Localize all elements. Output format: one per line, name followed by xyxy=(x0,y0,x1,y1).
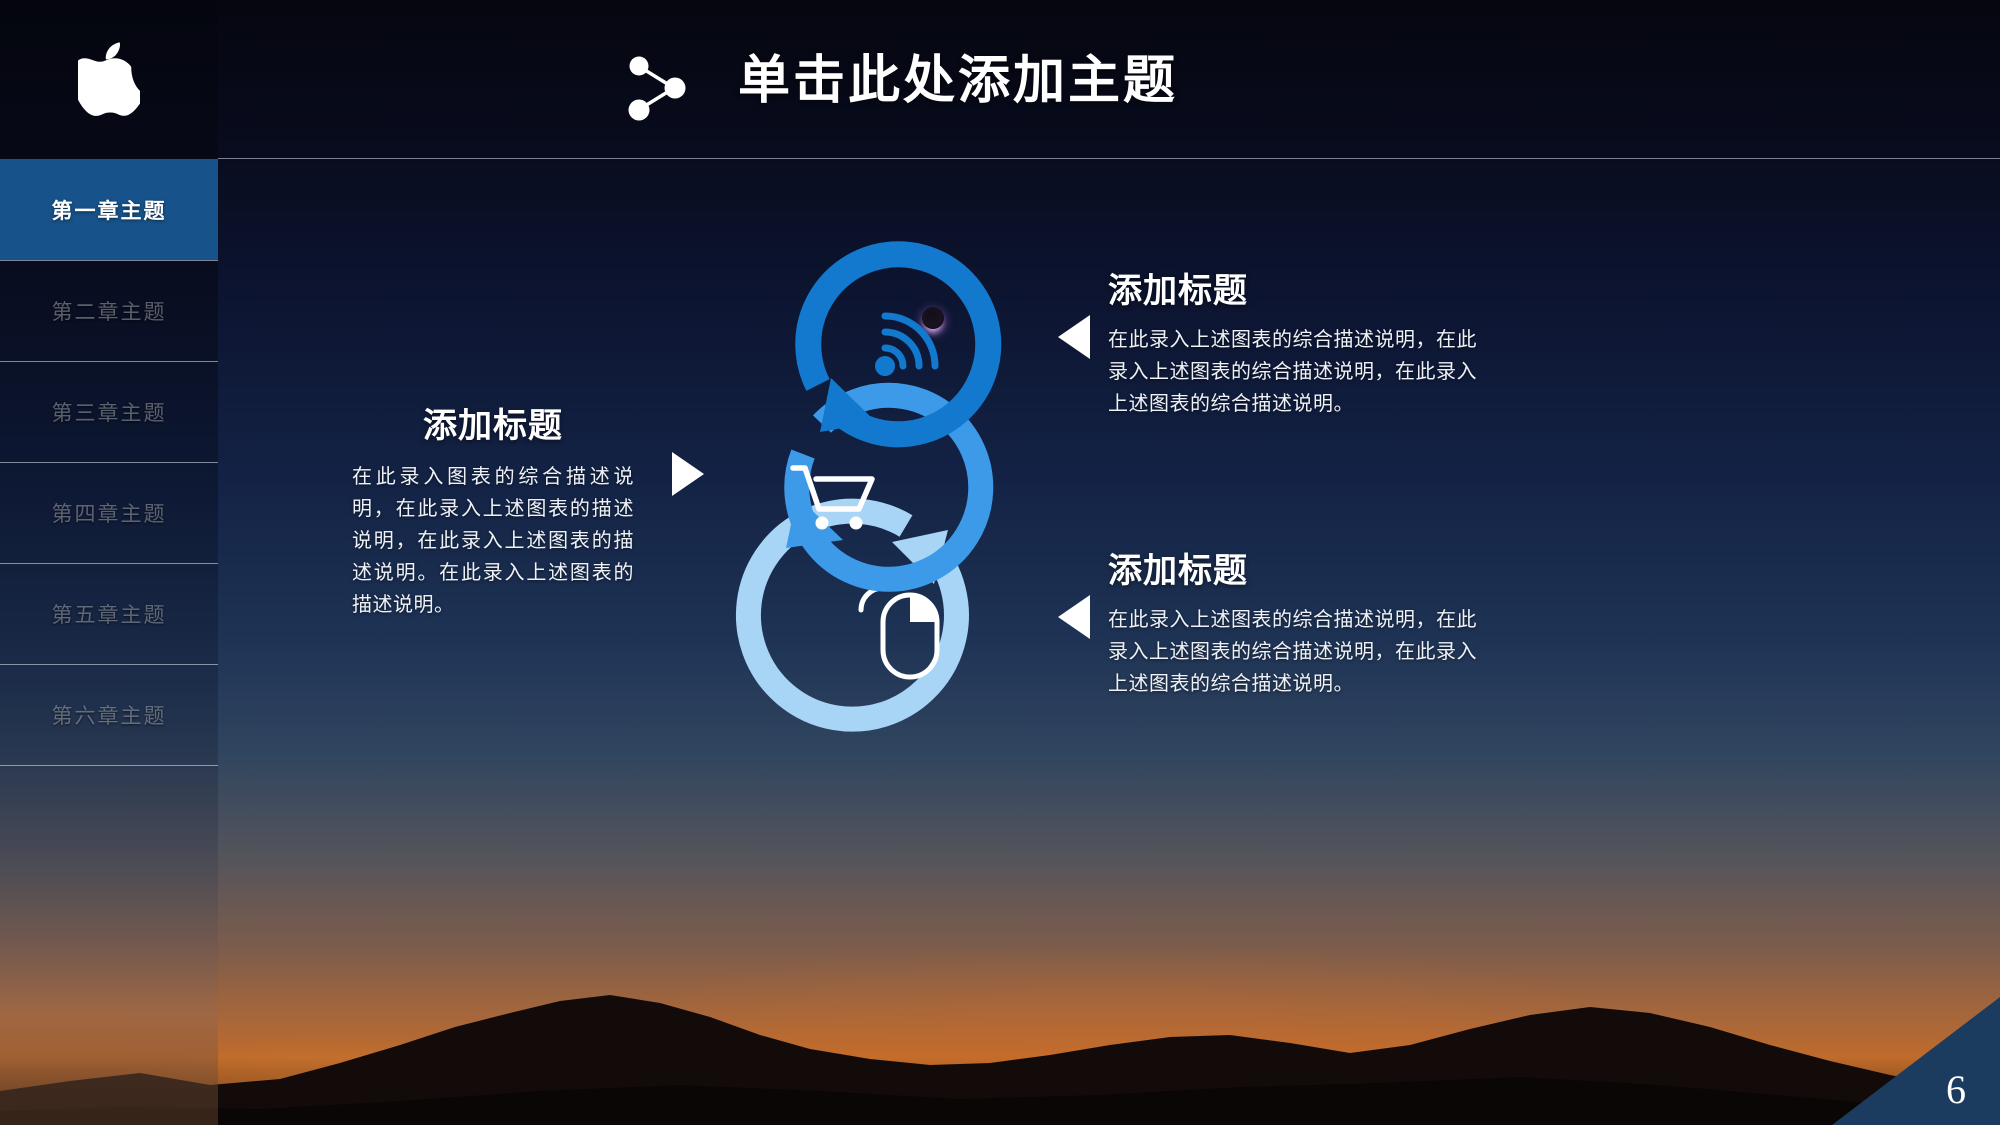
sidebar-item-chapter-6[interactable]: 第六章主题 xyxy=(0,664,218,765)
sidebar-logo xyxy=(0,0,218,158)
corner-triangle-shape xyxy=(1832,997,2000,1125)
sidebar-item-chapter-5[interactable]: 第五章主题 xyxy=(0,563,218,664)
sidebar-item-chapter-2[interactable]: 第二章主题 xyxy=(0,260,218,361)
cycle-node-mouse[interactable] xyxy=(748,511,956,719)
slide-header: 单击此处添加主题 xyxy=(218,0,2000,158)
text-block-right-bottom-title: 添加标题 xyxy=(1108,543,1478,592)
triangle-right-icon xyxy=(672,452,704,496)
sidebar-item-chapter-4[interactable]: 第四章主题 xyxy=(0,462,218,563)
sidebar-divider xyxy=(0,765,218,867)
sidebar-item-label: 第三章主题 xyxy=(52,397,167,427)
sidebar-item-label: 第四章主题 xyxy=(52,498,167,528)
text-block-right-bottom: 添加标题 在此录入上述图表的综合描述说明，在此录入上述图表的综合描述说明，在此录… xyxy=(1108,543,1478,700)
page-number-corner: 6 xyxy=(1832,997,2000,1125)
text-block-left: 添加标题 在此录入图表的综合描述说明，在此录入上述图表的描述说明，在此录入上述图… xyxy=(352,398,634,621)
triangle-left-icon xyxy=(1058,595,1090,639)
text-block-left-body: 在此录入图表的综合描述说明，在此录入上述图表的描述说明，在此录入上述图表的描述说… xyxy=(352,461,634,621)
sidebar-item-label: 第六章主题 xyxy=(52,700,167,730)
text-block-right-top: 添加标题 在此录入上述图表的综合描述说明，在此录入上述图表的综合描述说明，在此录… xyxy=(1108,263,1478,420)
sidebar-item-label: 第一章主题 xyxy=(52,195,167,225)
text-block-right-top-title: 添加标题 xyxy=(1108,263,1478,312)
slide-canvas: 第一章主题 第二章主题 第三章主题 第四章主题 第五章主题 第六章主题 xyxy=(0,0,2000,1125)
text-block-right-top-body: 在此录入上述图表的综合描述说明，在此录入上述图表的综合描述说明，在此录入上述图表… xyxy=(1108,324,1478,420)
sidebar-item-chapter-1[interactable]: 第一章主题 xyxy=(0,159,218,260)
sidebar-item-chapter-3[interactable]: 第三章主题 xyxy=(0,361,218,462)
sidebar-nav: 第一章主题 第二章主题 第三章主题 第四章主题 第五章主题 第六章主题 xyxy=(0,159,218,867)
wifi-signal-icon xyxy=(875,316,935,376)
page-title: 单击此处添加主题 xyxy=(738,38,1178,113)
apple-logo-icon xyxy=(78,42,140,116)
mountain-silhouette xyxy=(0,895,2000,1125)
computer-mouse-icon xyxy=(861,588,937,677)
sidebar-item-label: 第五章主题 xyxy=(52,599,167,629)
header-divider xyxy=(218,158,2000,159)
text-block-right-bottom-body: 在此录入上述图表的综合描述说明，在此录入上述图表的综合描述说明，在此录入上述图表… xyxy=(1108,604,1478,700)
text-block-left-title: 添加标题 xyxy=(352,398,634,447)
triangle-left-icon xyxy=(1058,315,1090,359)
page-number: 6 xyxy=(1946,1066,1966,1113)
process-cycle-diagram xyxy=(710,240,1060,770)
sidebar-item-label: 第二章主题 xyxy=(52,296,167,326)
sidebar: 第一章主题 第二章主题 第三章主题 第四章主题 第五章主题 第六章主题 xyxy=(0,0,218,1125)
share-nodes-icon xyxy=(626,55,692,121)
